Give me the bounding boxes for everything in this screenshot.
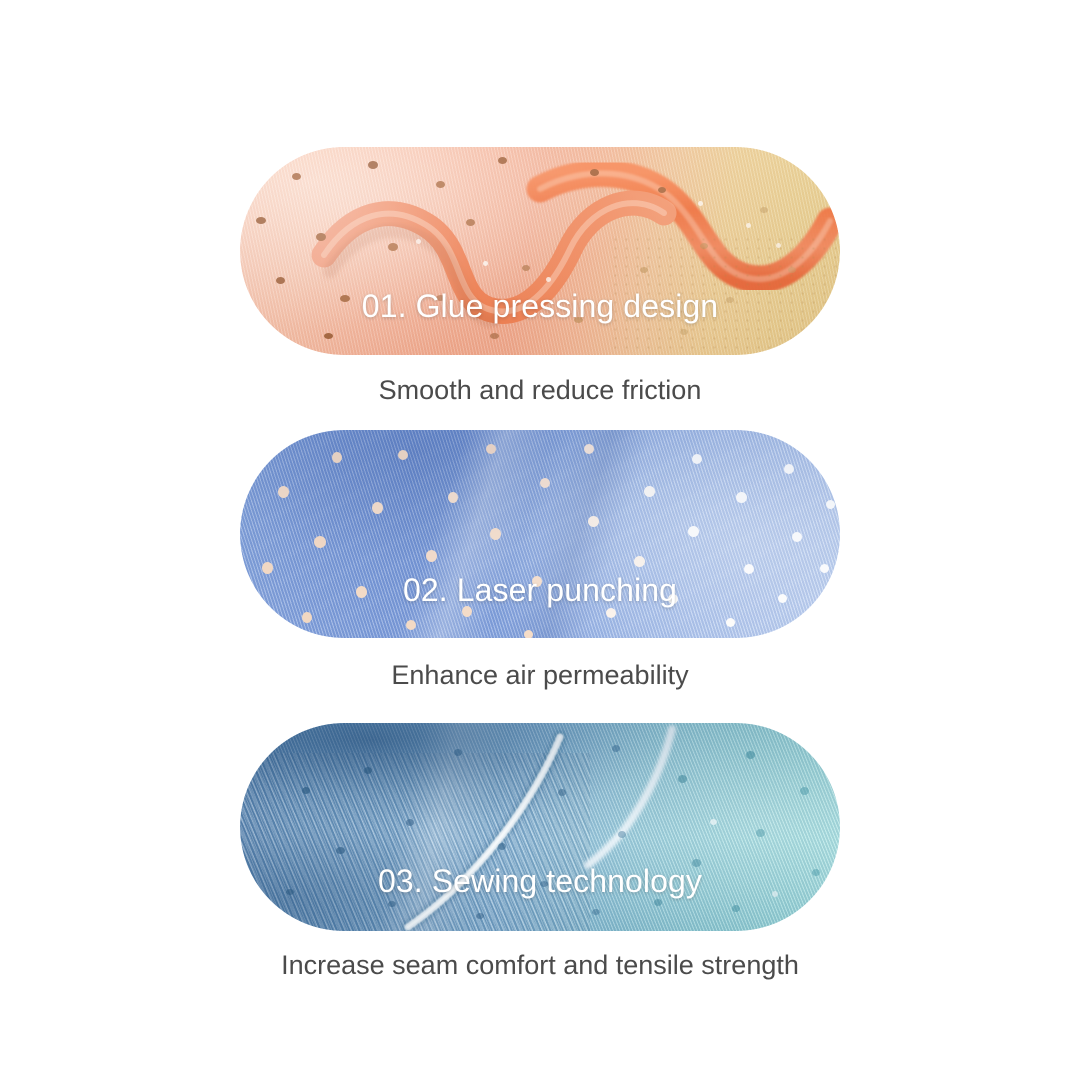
feature-title-02: 02. Laser punching: [240, 572, 840, 609]
feature-image-03: 03. Sewing technology: [240, 723, 840, 931]
infographic-page: 01. Glue pressing design Smooth and redu…: [0, 0, 1080, 1080]
feature-card-03: 03. Sewing technology Increase seam comf…: [0, 723, 1080, 931]
feature-caption-02: Enhance air permeability: [0, 660, 1080, 691]
feature-caption-03: Increase seam comfort and tensile streng…: [0, 950, 1080, 981]
feature-title-03: 03. Sewing technology: [240, 863, 840, 900]
feature-caption-01: Smooth and reduce friction: [0, 375, 1080, 406]
feature-title-01: 01. Glue pressing design: [240, 288, 840, 325]
feature-card-01: 01. Glue pressing design Smooth and redu…: [0, 147, 1080, 355]
feature-image-02: 02. Laser punching: [240, 430, 840, 638]
feature-card-02: 02. Laser punching Enhance air permeabil…: [0, 430, 1080, 638]
feature-image-01: 01. Glue pressing design: [240, 147, 840, 355]
